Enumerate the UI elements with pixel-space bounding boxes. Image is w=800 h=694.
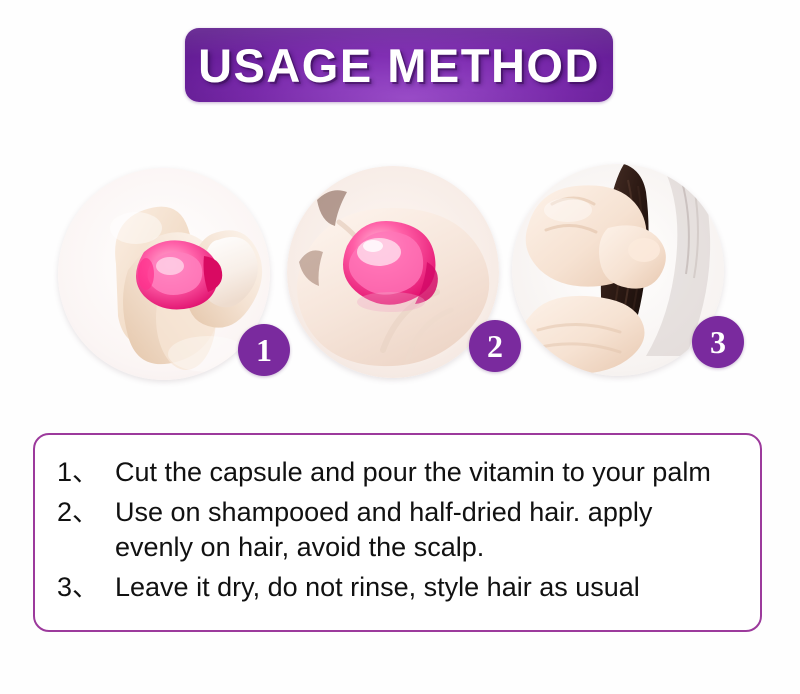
instruction-number-2: 2、 [57, 495, 115, 531]
step-item-2: 2 [287, 166, 499, 378]
capsule-in-palm-photo [287, 166, 499, 378]
instruction-text-3: Leave it dry, do not rinse, style hair a… [115, 570, 738, 606]
instruction-row-2: 2、 Use on shampooed and half-dried hair.… [57, 495, 738, 566]
instructions-box: 1、 Cut the capsule and pour the vitamin … [33, 433, 762, 632]
instruction-row-3: 3、 Leave it dry, do not rinse, style hai… [57, 570, 738, 606]
instruction-number-3: 3、 [57, 570, 115, 606]
banner-background: USAGE METHOD [185, 28, 613, 102]
page-title: USAGE METHOD [198, 38, 600, 93]
step-item-3: 3 [512, 164, 724, 376]
instruction-text-2: Use on shampooed and half-dried hair. ap… [115, 495, 738, 566]
step-photos-row: 1 [0, 160, 800, 410]
instruction-text-1: Cut the capsule and pour the vitamin to … [115, 455, 738, 491]
step-item-1: 1 [58, 168, 270, 380]
instruction-row-1: 1、 Cut the capsule and pour the vitamin … [57, 455, 738, 491]
usage-method-banner: USAGE METHOD [185, 28, 613, 102]
instruction-text-2-line2: evenly on hair, avoid the scalp. [115, 530, 738, 566]
instruction-text-2-line1: Use on shampooed and half-dried hair. ap… [115, 497, 652, 527]
instruction-number-1: 1、 [57, 455, 115, 491]
step-badge-1: 1 [238, 324, 290, 376]
step-badge-3: 3 [692, 316, 744, 368]
